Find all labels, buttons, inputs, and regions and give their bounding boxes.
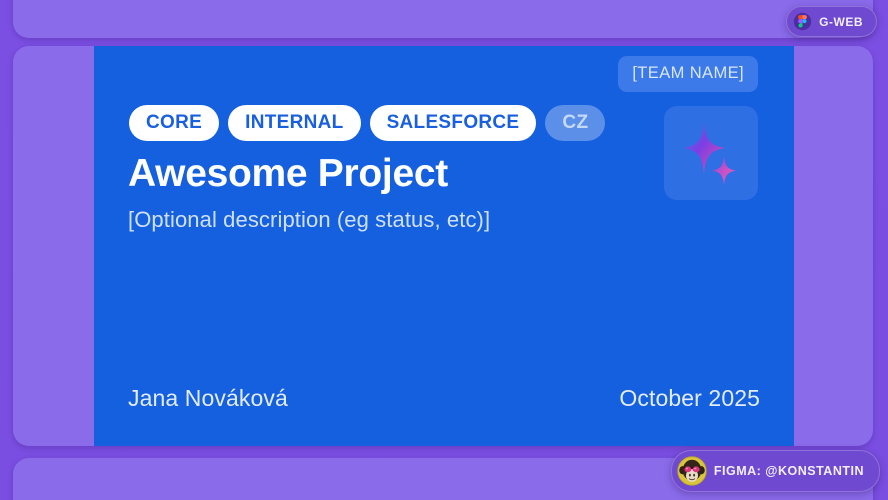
figma-logo-icon	[793, 12, 812, 31]
tag-cz[interactable]: CZ	[545, 105, 605, 141]
slide-date: October 2025	[619, 385, 760, 412]
gweb-badge[interactable]: G-WEB	[786, 6, 877, 37]
figma-credit-badge[interactable]: FIGMA: @KONSTANTIN	[671, 450, 880, 492]
monkey-avatar	[677, 456, 707, 486]
tag-list: CORE INTERNAL SALESFORCE CZ	[129, 105, 605, 141]
slide-footer: Jana Nováková October 2025	[128, 385, 760, 412]
tag-internal[interactable]: INTERNAL	[228, 105, 360, 141]
figma-credit-label: FIGMA: @KONSTANTIN	[714, 464, 864, 478]
slide-stage: [TEAM NAME] CORE INTERNAL SALESFORCE CZ …	[0, 0, 888, 500]
gweb-label: G-WEB	[819, 15, 863, 29]
page-title: Awesome Project	[128, 152, 448, 196]
team-name-badge[interactable]: [TEAM NAME]	[618, 56, 758, 92]
sparkle-icon	[680, 120, 742, 186]
tag-salesforce[interactable]: SALESFORCE	[370, 105, 537, 141]
page-description: [Optional description (eg status, etc)]	[128, 207, 490, 233]
author-name: Jana Nováková	[128, 385, 288, 412]
tag-core[interactable]: CORE	[129, 105, 219, 141]
project-slide-card: [TEAM NAME] CORE INTERNAL SALESFORCE CZ …	[94, 46, 794, 446]
project-logo-tile	[664, 106, 758, 200]
panel-above	[13, 0, 873, 38]
